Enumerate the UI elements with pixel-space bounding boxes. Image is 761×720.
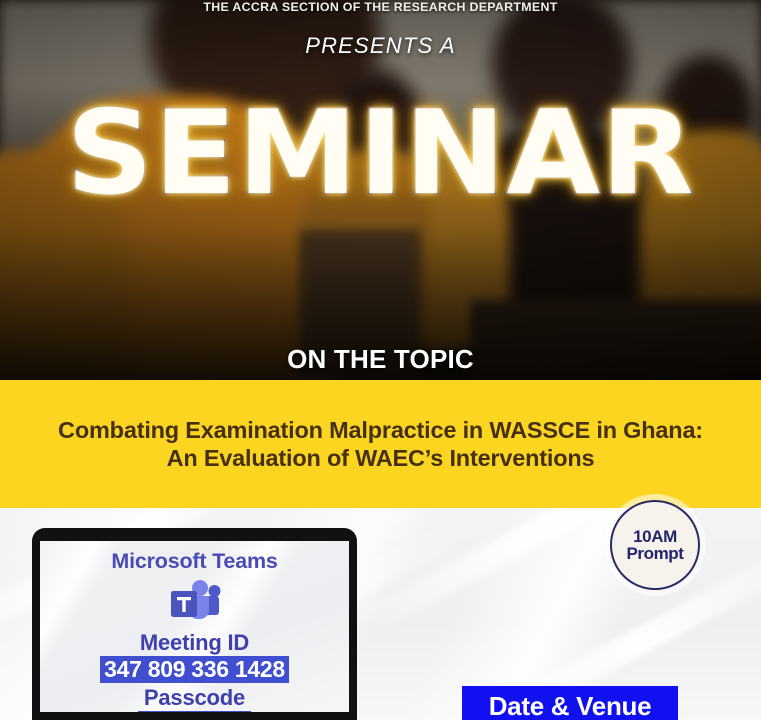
time-badge-line-2: Prompt bbox=[626, 545, 683, 562]
meeting-id-value[interactable]: 347 809 336 1428 bbox=[100, 656, 289, 683]
date-venue-box: Date & Venue bbox=[462, 686, 678, 720]
time-badge: 10AM Prompt bbox=[610, 500, 700, 590]
date-venue-label: Date & Venue bbox=[489, 691, 652, 720]
topic-line-1: Combating Examination Malpractice in WAS… bbox=[10, 416, 751, 444]
organization-kicker: THE ACCRA SECTION OF THE RESEARCH DEPART… bbox=[0, 0, 761, 14]
topic-line-2: An Evaluation of WAEC’s Interventions bbox=[10, 444, 751, 472]
page-title: SEMINAR bbox=[0, 96, 761, 212]
presents-label: PRESENTS A bbox=[0, 33, 761, 59]
platform-name: Microsoft Teams bbox=[40, 549, 349, 574]
webcam-icon bbox=[192, 532, 197, 537]
microsoft-teams-icon bbox=[167, 580, 223, 626]
laptop-screen: Microsoft Teams Meeting ID 347 809 336 1… bbox=[40, 541, 349, 720]
topic-banner: Combating Examination Malpractice in WAS… bbox=[0, 380, 761, 508]
on-the-topic-label: ON THE TOPIC bbox=[0, 344, 761, 375]
meeting-id-value-wrap: 347 809 336 1428 bbox=[40, 656, 349, 683]
laptop-mockup: Microsoft Teams Meeting ID 347 809 336 1… bbox=[32, 528, 357, 720]
hero-photo-section: THE ACCRA SECTION OF THE RESEARCH DEPART… bbox=[0, 0, 761, 380]
meeting-id-label: Meeting ID bbox=[40, 630, 349, 656]
time-badge-line-1: 10AM bbox=[626, 528, 683, 545]
passcode-value-wrap: vi6uW3d2 bbox=[40, 711, 349, 720]
seminar-flyer: THE ACCRA SECTION OF THE RESEARCH DEPART… bbox=[0, 0, 761, 720]
passcode-value[interactable]: vi6uW3d2 bbox=[138, 711, 251, 720]
passcode-label: Passcode bbox=[40, 685, 349, 711]
